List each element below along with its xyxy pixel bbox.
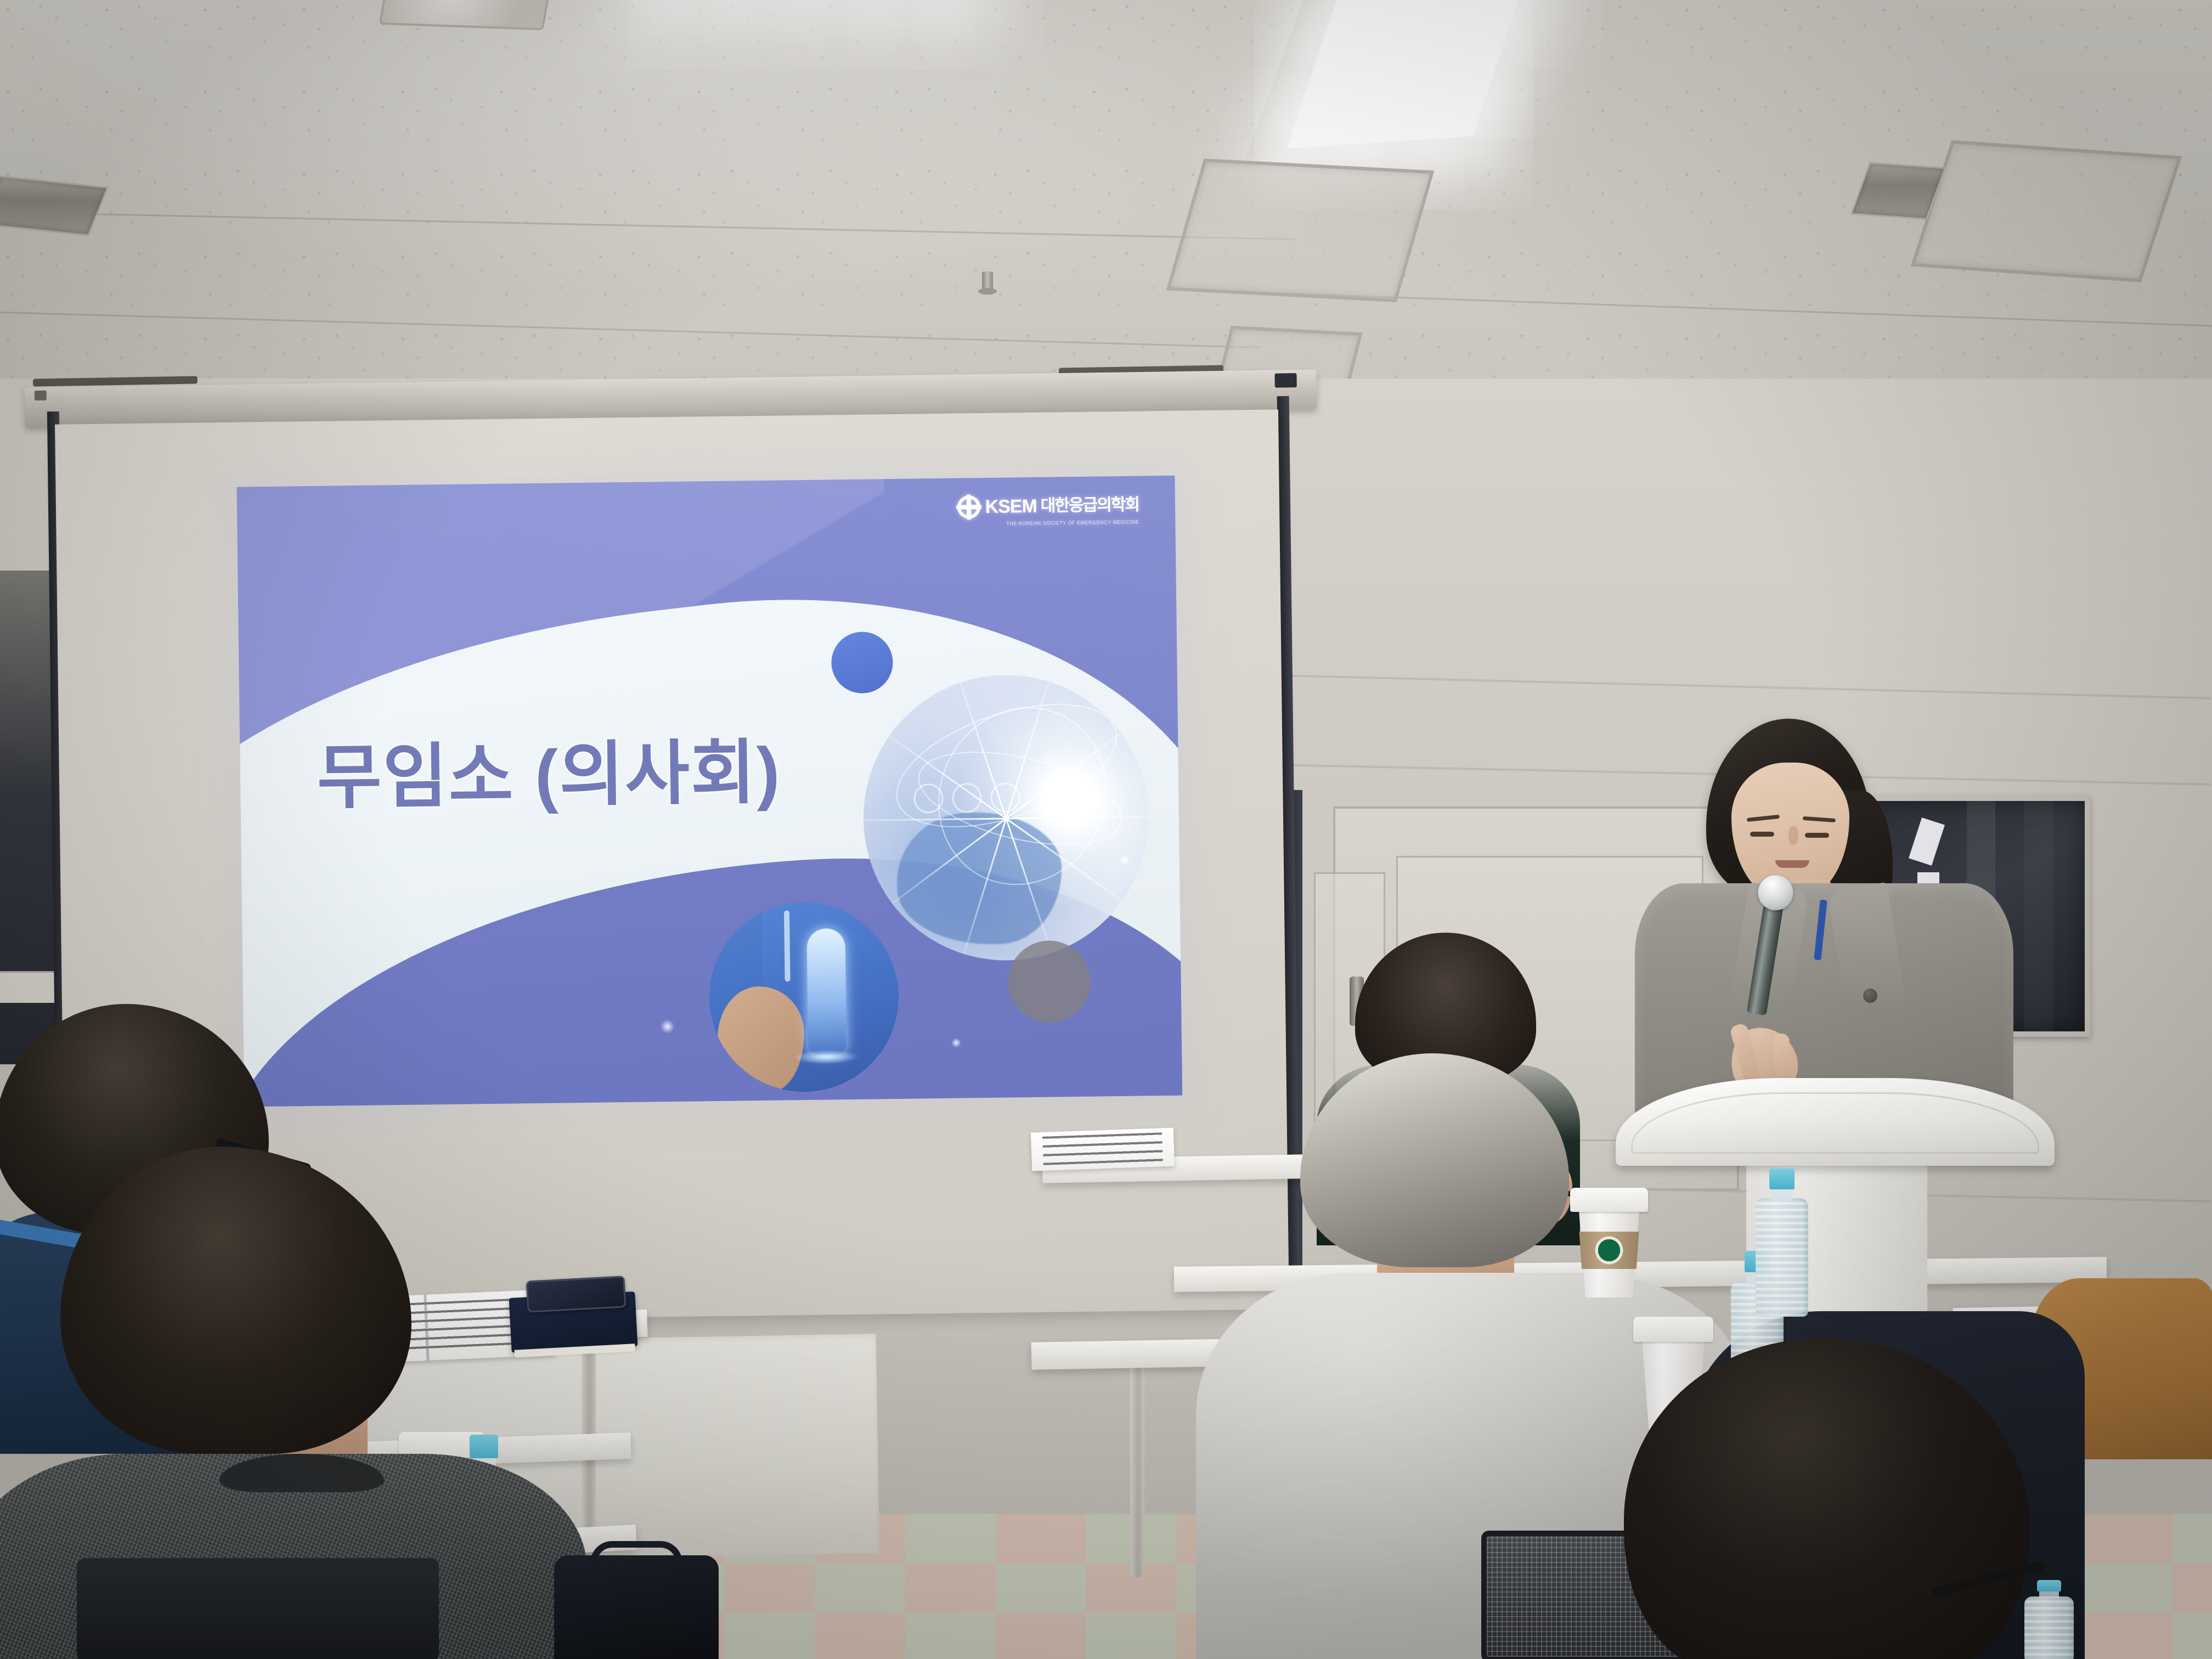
presentation-slide[interactable]: 무임소 (의사회) KSEM 대한응급의학회 THE KOREAN SOCIET… [236, 476, 1182, 1107]
conference-room-photo: 무임소 (의사회) KSEM 대한응급의학회 THE KOREAN SOCIET… [0, 0, 2212, 1659]
ceiling-tile-recess [1166, 159, 1435, 302]
chair-back-left[interactable] [77, 1558, 439, 1659]
clinician-hologram-circle-image [708, 901, 900, 1093]
audience-member-front-right [1624, 1339, 2096, 1659]
logo-korean-name: 대한응급의학회 [1041, 497, 1139, 515]
attendee-hair [1624, 1339, 2030, 1659]
backpack [554, 1555, 719, 1659]
presenter-nose [1788, 826, 1798, 845]
slide-title: 무임소 (의사회) [317, 715, 782, 822]
star-of-life-gear-icon [956, 494, 981, 520]
presenter-mouth [1775, 860, 1809, 868]
water-bottle-center [1756, 1169, 1808, 1317]
lectern [1616, 1078, 2055, 1336]
ceiling-tile-recess [1911, 140, 2182, 282]
coffee-cup-center [1575, 1188, 1644, 1297]
open-booklet-center [1031, 1127, 1175, 1171]
logo-wordmark: KSEM [985, 497, 1037, 516]
fire-sprinkler-head [982, 272, 993, 295]
attendee-hair [60, 1147, 411, 1454]
ksem-logo: KSEM 대한응급의학회 THE KOREAN SOCIETY OF EMERG… [956, 493, 1139, 520]
coat-button [1863, 989, 1877, 1003]
desk-leg [1130, 1358, 1144, 1577]
attendee-hair [1300, 1053, 1569, 1267]
